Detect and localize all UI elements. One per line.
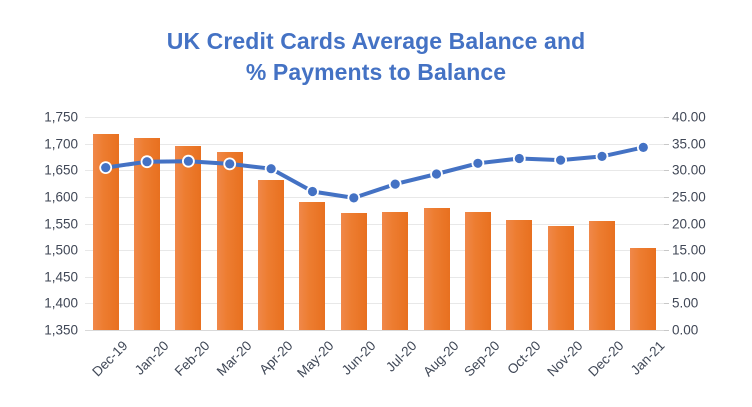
bar-may-20 [299, 202, 325, 330]
bar-dec-20 [589, 221, 615, 330]
gridline [85, 277, 664, 278]
marker-halo [472, 157, 485, 170]
marker-dec-20 [597, 152, 606, 161]
gridline [85, 170, 664, 171]
marker-jul-20 [391, 180, 400, 189]
bar-aug-20 [424, 208, 450, 330]
x-axis-label-mar-20: Mar-20 [214, 338, 255, 379]
gridline [85, 303, 664, 304]
bar-jan-21 [630, 248, 656, 330]
y-axis-right-tickmark [664, 330, 669, 331]
y-axis-right-tickmark [664, 197, 669, 198]
y-axis-left-tick: 1,700 [20, 136, 78, 151]
x-axis-label-dec-19: Dec-19 [89, 338, 130, 379]
y-axis-right-tickmark [664, 224, 669, 225]
bar-feb-20 [175, 146, 201, 330]
y-axis-right-tickmark [664, 303, 669, 304]
bar-nov-20 [548, 226, 574, 330]
y-axis-right-tick: 40.00 [672, 110, 734, 125]
x-axis-label-jan-21: Jan-21 [628, 338, 668, 378]
marker-oct-20 [515, 154, 524, 163]
bar-jan-20 [134, 138, 160, 330]
y-axis-right-tick: 25.00 [672, 189, 734, 204]
x-axis-label-oct-20: Oct-20 [505, 338, 544, 377]
x-axis-label-feb-20: Feb-20 [172, 338, 213, 379]
y-axis-left-tick: 1,350 [20, 323, 78, 338]
marker-halo [265, 162, 278, 175]
y-axis-right-tick: 20.00 [672, 216, 734, 231]
gridline [85, 117, 664, 118]
y-axis-left-tick: 1,650 [20, 163, 78, 178]
y-axis-right: 40.0035.0030.0025.0020.0015.0010.005.000… [672, 117, 740, 330]
y-axis-right-tickmark [664, 277, 669, 278]
marker-may-20 [308, 187, 317, 196]
x-axis-label-jan-20: Jan-20 [132, 338, 172, 378]
bar-jul-20 [382, 212, 408, 330]
marker-nov-20 [556, 156, 565, 165]
y-axis-left-tick: 1,450 [20, 269, 78, 284]
x-axis-labels: Dec-19Jan-20Feb-20Mar-20Apr-20May-20Jun-… [85, 332, 664, 402]
gridline [85, 224, 664, 225]
y-axis-right-tick: 30.00 [672, 163, 734, 178]
bar-apr-20 [258, 180, 284, 330]
bar-mar-20 [217, 152, 243, 330]
chart-container: UK Credit Cards Average Balance and % Pa… [0, 0, 752, 407]
y-axis-left-tick: 1,400 [20, 296, 78, 311]
chart-title-line-1: UK Credit Cards Average Balance and [0, 26, 752, 57]
y-axis-left-tick: 1,550 [20, 216, 78, 231]
x-axis-label-jun-20: Jun-20 [339, 338, 379, 378]
axis-baseline [85, 330, 664, 331]
x-axis-label-jul-20: Jul-20 [383, 338, 420, 375]
x-axis-label-apr-20: Apr-20 [256, 338, 295, 377]
y-axis-right-tick: 35.00 [672, 136, 734, 151]
y-axis-right-tickmark [664, 144, 669, 145]
y-axis-right-tick: 5.00 [672, 296, 734, 311]
y-axis-right-tick: 10.00 [672, 269, 734, 284]
gridline [85, 144, 664, 145]
plot-area [85, 117, 664, 330]
marker-halo [306, 185, 319, 198]
marker-halo [554, 154, 567, 167]
y-axis-left-tick: 1,750 [20, 110, 78, 125]
bar-dec-19 [93, 134, 119, 330]
x-axis-label-aug-20: Aug-20 [420, 338, 461, 379]
y-axis-right-tick: 15.00 [672, 243, 734, 258]
marker-halo [389, 178, 402, 191]
y-axis-right-tickmark [664, 250, 669, 251]
x-axis-label-nov-20: Nov-20 [544, 338, 585, 379]
bar-oct-20 [506, 220, 532, 330]
marker-halo [513, 152, 526, 165]
x-axis-label-sep-20: Sep-20 [461, 338, 502, 379]
marker-apr-20 [267, 164, 276, 173]
bar-sep-20 [465, 212, 491, 330]
x-axis-label-dec-20: Dec-20 [585, 338, 626, 379]
marker-halo [596, 150, 609, 163]
chart-title-line-2: % Payments to Balance [0, 57, 752, 88]
marker-halo [637, 141, 650, 154]
bar-jun-20 [341, 213, 367, 330]
marker-sep-20 [473, 159, 482, 168]
y-axis-right-tick: 0.00 [672, 323, 734, 338]
y-axis-right-tickmark [664, 170, 669, 171]
chart-title: UK Credit Cards Average Balance and % Pa… [0, 26, 752, 88]
y-axis-left-tick: 1,600 [20, 189, 78, 204]
y-axis-left: 1,7501,7001,6501,6001,5501,5001,4501,400… [14, 117, 78, 330]
y-axis-right-tickmark [664, 117, 669, 118]
gridline [85, 197, 664, 198]
y-axis-left-tick: 1,500 [20, 243, 78, 258]
x-axis-label-may-20: May-20 [295, 338, 337, 380]
gridline [85, 250, 664, 251]
